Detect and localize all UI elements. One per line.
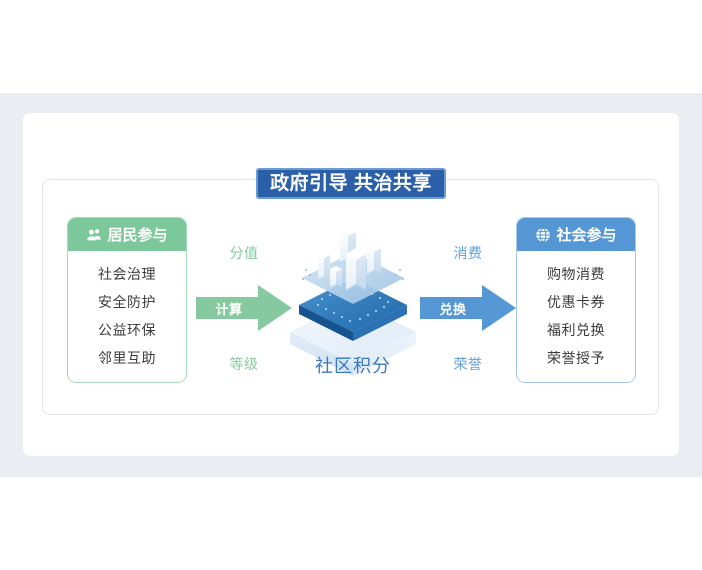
calculate-arrow-group: 分值 计算 等级 bbox=[196, 243, 292, 378]
exchange-arrow-group: 消费 兑换 荣誉 bbox=[420, 243, 516, 378]
page-title: 政府引导 共治共享 bbox=[270, 174, 432, 193]
resident-participation-title: 居民参与 bbox=[107, 224, 167, 245]
list-item[interactable]: 安全防护 bbox=[68, 288, 186, 316]
consumption-caption: 消费 bbox=[420, 243, 516, 263]
level-caption: 等级 bbox=[196, 354, 292, 374]
list-item[interactable]: 社会治理 bbox=[68, 260, 186, 288]
diagram-title-banner: 政府引导 共治共享 bbox=[256, 168, 446, 199]
list-item[interactable]: 邻里互助 bbox=[68, 344, 186, 372]
honor-caption: 荣誉 bbox=[420, 354, 516, 374]
social-participation-list: 购物消费 优惠卡券 福利兑换 荣誉授予 bbox=[517, 251, 635, 382]
resident-participation-panel[interactable]: 居民参与 社会治理 安全防护 公益环保 邻里互助 bbox=[67, 217, 187, 383]
score-caption: 分值 bbox=[196, 243, 292, 263]
list-item[interactable]: 福利兑换 bbox=[517, 316, 635, 344]
community-points-label: 社区积分 bbox=[288, 352, 418, 378]
social-participation-panel[interactable]: 社会参与 购物消费 优惠卡券 福利兑换 荣誉授予 bbox=[516, 217, 636, 383]
exchange-label: 兑换 bbox=[420, 285, 486, 331]
list-item[interactable]: 荣誉授予 bbox=[517, 344, 635, 372]
people-icon bbox=[86, 227, 102, 243]
calculate-label: 计算 bbox=[196, 285, 262, 331]
globe-icon bbox=[535, 227, 551, 243]
social-participation-title: 社会参与 bbox=[556, 224, 616, 245]
social-participation-header: 社会参与 bbox=[517, 218, 635, 251]
resident-participation-list: 社会治理 安全防护 公益环保 邻里互助 bbox=[68, 251, 186, 382]
resident-participation-header: 居民参与 bbox=[68, 218, 186, 251]
list-item[interactable]: 公益环保 bbox=[68, 316, 186, 344]
list-item[interactable]: 购物消费 bbox=[517, 260, 635, 288]
list-item[interactable]: 优惠卡券 bbox=[517, 288, 635, 316]
